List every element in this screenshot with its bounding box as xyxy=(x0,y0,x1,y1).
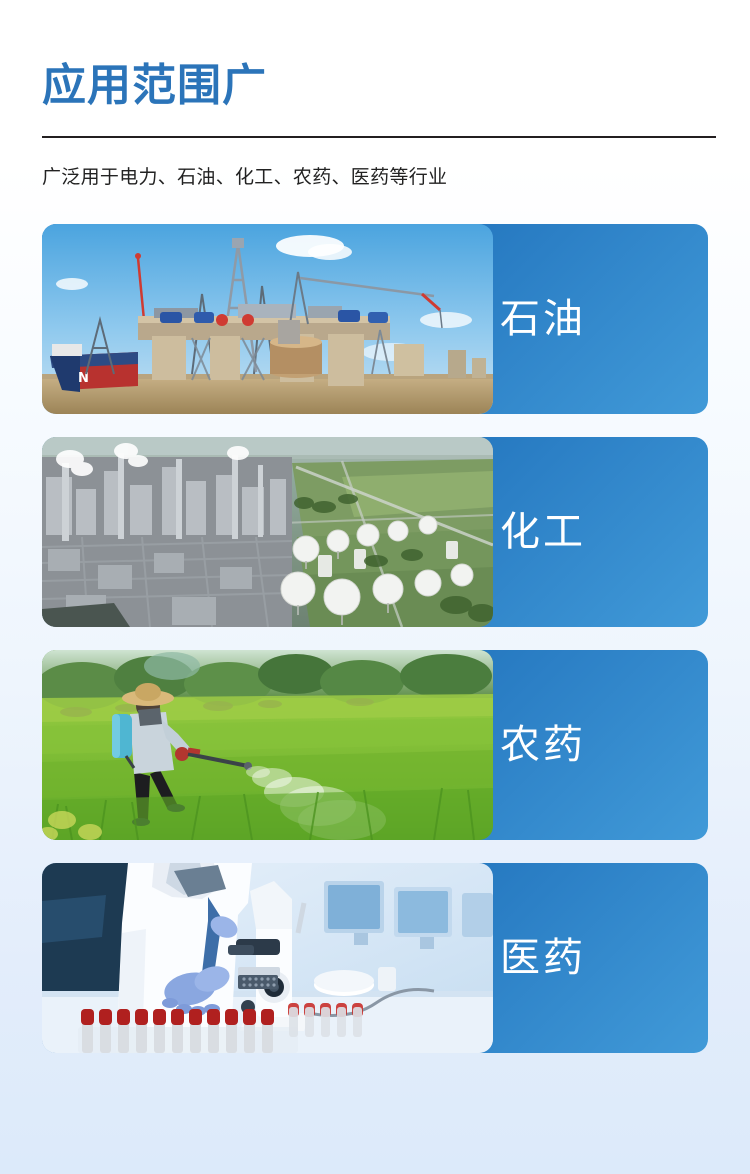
svg-text:N: N xyxy=(78,371,89,386)
card-label: 医药 xyxy=(492,938,708,978)
industry-card-oil[interactable]: 石油 xyxy=(42,224,708,414)
pharmaceutical-lab-microscope-photo xyxy=(42,863,493,1053)
page-header: 应用范围广 广泛用于电力、石油、化工、农药、医药等行业 xyxy=(0,0,750,190)
title-divider xyxy=(42,136,716,138)
page-title: 应用范围广 xyxy=(42,62,712,110)
industry-card-list: 石油 xyxy=(0,224,750,1053)
industry-card-chemical[interactable]: 化工 xyxy=(42,437,708,627)
card-label: 农药 xyxy=(492,725,708,765)
page-subtitle: 广泛用于电力、石油、化工、农药、医药等行业 xyxy=(42,164,712,191)
chemical-refinery-aerial-photo xyxy=(42,437,493,627)
card-label: 化工 xyxy=(492,512,708,552)
industry-card-pharmaceutical[interactable]: 医药 xyxy=(42,863,708,1053)
card-label: 石油 xyxy=(492,299,708,339)
industry-card-pesticide[interactable]: 农药 xyxy=(42,650,708,840)
farmer-spraying-pesticide-photo xyxy=(42,650,493,840)
offshore-oil-rig-photo: N xyxy=(42,224,493,414)
